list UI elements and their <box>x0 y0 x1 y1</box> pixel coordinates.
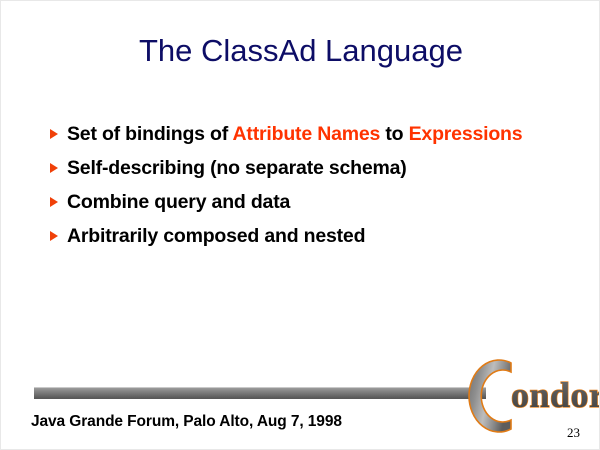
triangle-right-icon <box>50 163 58 173</box>
svg-text:ondor: ondor <box>511 375 599 415</box>
footer-caption: Java Grande Forum, Palo Alto, Aug 7, 199… <box>31 413 342 431</box>
condor-logo: ondor <box>467 357 599 435</box>
list-item: Set of bindings of Attribute Names to Ex… <box>45 122 545 147</box>
condor-wordmark: ondor <box>511 375 599 415</box>
condor-letter-c-icon <box>469 360 514 432</box>
list-item-text: Combine query and data <box>67 190 545 215</box>
list-item-text: Arbitrarily composed and nested <box>67 224 545 249</box>
plain-term: Set of bindings of <box>67 123 233 145</box>
list-item: Arbitrarily composed and nested <box>45 224 545 249</box>
plain-term: to <box>380 123 408 145</box>
list-item-text: Set of bindings of Attribute Names to Ex… <box>67 122 545 147</box>
slide-canvas: The ClassAd Language Set of bindings of … <box>0 0 600 450</box>
page-title: The ClassAd Language <box>1 33 600 69</box>
highlighted-term: Expressions <box>409 123 523 145</box>
highlighted-term: Attribute Names <box>233 123 381 145</box>
triangle-right-icon <box>50 129 58 139</box>
bullet-list: Set of bindings of Attribute Names to Ex… <box>45 122 545 258</box>
triangle-right-icon <box>50 231 58 241</box>
list-item: Self-describing (no separate schema) <box>45 156 545 181</box>
triangle-right-icon <box>50 197 58 207</box>
list-item: Combine query and data <box>45 190 545 215</box>
list-item-text: Self-describing (no separate schema) <box>67 156 545 181</box>
